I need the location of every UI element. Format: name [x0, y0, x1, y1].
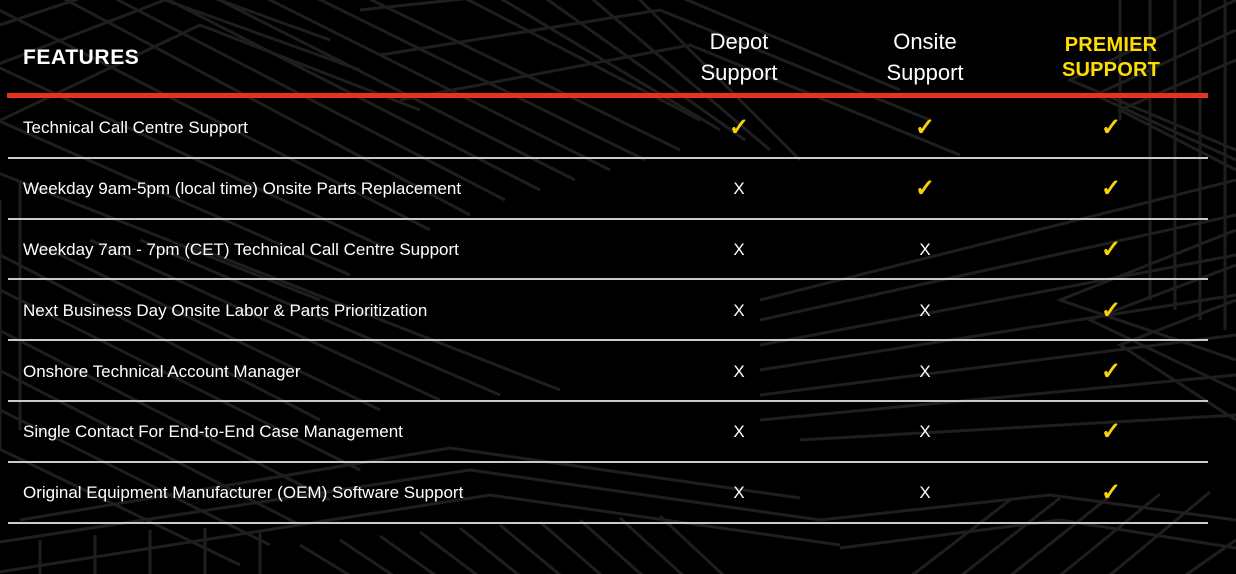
- cell-depot-support: X: [639, 481, 839, 505]
- check-icon: ✓: [915, 114, 935, 141]
- header-accent-rule: [7, 93, 1208, 98]
- cell-depot-support: X: [639, 420, 839, 444]
- table-row: Original Equipment Manufacturer (OEM) So…: [0, 463, 1236, 524]
- cross-icon: X: [919, 422, 930, 441]
- table-row: Single Contact For End-to-End Case Manag…: [0, 402, 1236, 463]
- cross-icon: X: [733, 362, 744, 381]
- features-column-title: FEATURES: [23, 46, 139, 70]
- cell-premier-support: ✓: [1011, 299, 1211, 323]
- support-plan-comparison-table: FEATURES Depot Support Onsite Support PR…: [0, 0, 1236, 574]
- table-body: Technical Call Centre Support ✓ ✓ ✓ Week…: [0, 98, 1236, 524]
- feature-label: Technical Call Centre Support: [23, 118, 248, 138]
- column-header-premier-support-line1: PREMIER: [1011, 33, 1211, 58]
- cross-icon: X: [733, 301, 744, 320]
- cross-icon: X: [919, 240, 930, 259]
- table-row: Technical Call Centre Support ✓ ✓ ✓: [0, 98, 1236, 159]
- feature-label: Onshore Technical Account Manager: [23, 362, 301, 382]
- cell-onsite-support: X: [825, 360, 1025, 384]
- cell-onsite-support: X: [825, 420, 1025, 444]
- cell-onsite-support: ✓: [825, 177, 1025, 201]
- table-row: Weekday 9am-5pm (local time) Onsite Part…: [0, 159, 1236, 220]
- cell-premier-support: ✓: [1011, 481, 1211, 505]
- table-header: FEATURES Depot Support Onsite Support PR…: [0, 0, 1236, 95]
- check-icon: ✓: [1101, 479, 1121, 506]
- feature-label: Original Equipment Manufacturer (OEM) So…: [23, 483, 463, 503]
- table-row: Weekday 7am - 7pm (CET) Technical Call C…: [0, 220, 1236, 281]
- cross-icon: X: [919, 301, 930, 320]
- column-header-premier-support-line2: SUPPORT: [1011, 58, 1211, 83]
- cell-premier-support: ✓: [1011, 360, 1211, 384]
- table-row: Next Business Day Onsite Labor & Parts P…: [0, 280, 1236, 341]
- column-header-premier-support: PREMIER SUPPORT: [1011, 33, 1211, 83]
- cell-premier-support: ✓: [1011, 420, 1211, 444]
- feature-label: Single Contact For End-to-End Case Manag…: [23, 422, 403, 442]
- cross-icon: X: [733, 179, 744, 198]
- check-icon: ✓: [1101, 297, 1121, 324]
- cell-depot-support: X: [639, 360, 839, 384]
- column-header-onsite-support-line2: Support: [825, 57, 1025, 88]
- cell-premier-support: ✓: [1011, 116, 1211, 140]
- cell-depot-support: X: [639, 238, 839, 262]
- cross-icon: X: [733, 240, 744, 259]
- table-row: Onshore Technical Account Manager X X ✓: [0, 341, 1236, 402]
- check-icon: ✓: [1101, 175, 1121, 202]
- feature-label: Next Business Day Onsite Labor & Parts P…: [23, 301, 427, 321]
- cell-premier-support: ✓: [1011, 238, 1211, 262]
- cross-icon: X: [919, 483, 930, 502]
- feature-label: Weekday 7am - 7pm (CET) Technical Call C…: [23, 240, 459, 260]
- column-header-onsite-support: Onsite Support: [825, 26, 1025, 88]
- row-divider: [8, 522, 1208, 524]
- column-header-onsite-support-line1: Onsite: [825, 26, 1025, 57]
- cell-depot-support: X: [639, 177, 839, 201]
- cross-icon: X: [733, 483, 744, 502]
- cell-onsite-support: X: [825, 238, 1025, 262]
- cross-icon: X: [733, 422, 744, 441]
- check-icon: ✓: [915, 175, 935, 202]
- check-icon: ✓: [1101, 358, 1121, 385]
- cross-icon: X: [919, 362, 930, 381]
- check-icon: ✓: [1101, 236, 1121, 263]
- feature-label: Weekday 9am-5pm (local time) Onsite Part…: [23, 179, 461, 199]
- cell-premier-support: ✓: [1011, 177, 1211, 201]
- cell-onsite-support: X: [825, 481, 1025, 505]
- cell-onsite-support: ✓: [825, 116, 1025, 140]
- column-header-depot-support: Depot Support: [639, 26, 839, 88]
- cell-onsite-support: X: [825, 299, 1025, 323]
- check-icon: ✓: [729, 114, 749, 141]
- column-header-depot-support-line1: Depot: [639, 26, 839, 57]
- check-icon: ✓: [1101, 418, 1121, 445]
- cell-depot-support: X: [639, 299, 839, 323]
- check-icon: ✓: [1101, 114, 1121, 141]
- column-header-depot-support-line2: Support: [639, 57, 839, 88]
- cell-depot-support: ✓: [639, 116, 839, 140]
